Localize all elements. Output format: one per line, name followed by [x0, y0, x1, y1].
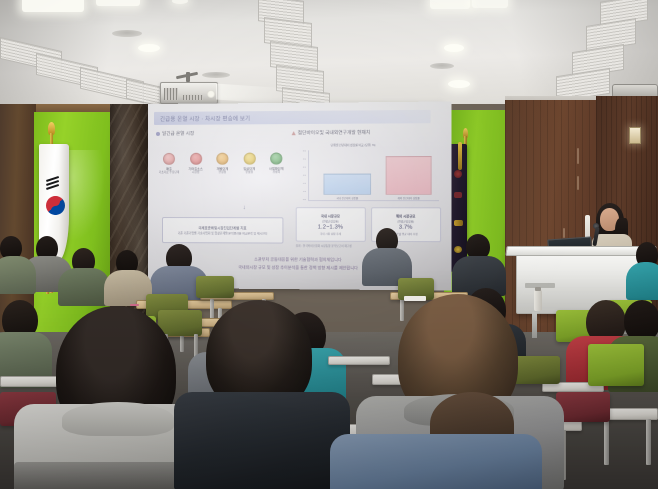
right-section-heading: 첨단바이오및 국내외연구개발 현재치	[292, 129, 444, 136]
section-bullet-icon	[156, 132, 160, 136]
slide-right-panel: 첨단바이오및 국내외연구개발 현재치 단위별 전년대비 성장률 비교 (단위: …	[292, 129, 444, 254]
chair	[588, 344, 644, 386]
left-section-heading: 일긴급 온열 시장	[156, 130, 288, 137]
podium-desktop-surface	[505, 246, 656, 256]
stat-box-domestic: 국내 시장규모 (연평균성장률) 1.2~1.3% 국내 시장 성장 추세	[296, 207, 366, 242]
chart-source-note: 출처 : 한국바이오협회 시장동향 분석보고서 재구성	[296, 244, 352, 248]
y-tick-label: 3.0	[303, 175, 306, 177]
ceiling-light-1	[22, 0, 84, 12]
flag-right-emblem-1	[454, 170, 462, 178]
process-step: 개발단계 안정성	[211, 153, 233, 175]
y-tick-label: 6.0	[303, 150, 306, 152]
step-circle-icon-5	[270, 152, 282, 164]
stat-title: 국내 시장규모	[321, 213, 340, 218]
stat-subtitle: (연평균성장률)	[397, 220, 414, 224]
flag-right-emblem-3	[454, 220, 463, 226]
desk-leg	[400, 299, 404, 321]
step-subcaption: 안정성	[211, 171, 233, 175]
bar-overseas	[386, 156, 432, 195]
step-circle-icon-2	[190, 153, 202, 165]
paper-on-desk	[404, 296, 426, 301]
bar-chart: 단위별 전년대비 성장률 비교 (단위: %) 6.0 5.0 4.0 3.0 …	[296, 142, 441, 206]
flag-right-emblem-2	[454, 192, 462, 198]
y-tick-label: 5.0	[303, 158, 306, 160]
person-shoulders-denim	[330, 434, 542, 489]
step-circle-icon-4	[243, 153, 255, 165]
desk	[328, 356, 390, 365]
left-section-title: 일긴급 온열 시장	[162, 131, 194, 137]
chart-caption: 단위별 전년대비 성장률 비교 (단위: %)	[331, 143, 376, 147]
left-note-line-2: 기준 기준기업별 기술사업화 및 임상단계별 분석결과를 비교분석 및 제시한다	[178, 231, 268, 235]
person-shoulders	[58, 268, 110, 306]
step-circle-icon-3	[216, 153, 228, 165]
process-icon-row: 매출 기초자료 수집단계 기타출소스 시장성 개발단계 안정성	[158, 152, 288, 174]
section-triangle-icon	[292, 131, 296, 135]
person-shoulders	[626, 262, 658, 300]
chair	[196, 276, 234, 298]
wall-sconce-light	[629, 127, 641, 144]
bar-domestic	[323, 174, 371, 195]
ceiling-light-5	[444, 44, 464, 52]
chair	[158, 310, 202, 336]
left-note-box: 국제표준화및시장진입단계별 지표 기준 기준기업별 기술사업화 및 임상단계별 …	[162, 217, 283, 244]
bar-label-overseas: 해외 전년대비 성장률	[381, 196, 435, 200]
slide-footer-line-2: 국내외시장 규모 및 성장 추이분석을 통한 정책 방향 제시를 제안합니다	[238, 265, 358, 272]
chart-plot-area: 국내 전년대비 성장률 해외 전년대비 성장률	[308, 150, 439, 201]
wood-seam-3	[563, 228, 565, 238]
chair	[514, 356, 560, 384]
projector	[160, 82, 218, 104]
person-shoulders	[0, 256, 36, 294]
bar-label-domestic: 국내 전년대비 성장률	[319, 196, 375, 200]
ceiling-light-4	[430, 0, 470, 9]
process-step: 사업화단계 경쟁력	[265, 152, 287, 174]
process-step: 기타출소스 시장성	[185, 153, 207, 175]
seminar-room-photo: 긴급용 온열 시장 · 차시장 편승에 보기 일긴급 온열 시장 매출 기초자료…	[0, 0, 658, 489]
slide-left-panel: 일긴급 온열 시장 매출 기초자료 수집단계 기타출소스 시장성	[156, 130, 288, 254]
stat-value: 1.2~1.3%	[318, 224, 343, 230]
podium-leg-left	[532, 312, 537, 338]
chart-y-axis: 6.0 5.0 4.0 3.0 2.0 1.0 0.0	[298, 150, 306, 201]
right-section-title: 첨단바이오및 국내외연구개발 현재치	[298, 130, 370, 137]
ceiling-light-8	[172, 0, 188, 4]
wood-seam-1	[577, 148, 579, 164]
ceiling-light-3	[138, 44, 160, 52]
step-circle-icon-1	[163, 153, 175, 165]
stat-title: 해외 시장규모	[396, 213, 415, 218]
flag-right-emblem-4	[454, 246, 462, 253]
stat-subtitle: (연평균성장률)	[322, 219, 339, 223]
projector-lens	[207, 90, 215, 98]
water-bottle	[534, 290, 542, 311]
slide-title-bar: 긴급용 온열 시장 · 차시장 편승에 보기	[154, 110, 431, 125]
downward-arrow-icon: ↓	[243, 205, 246, 211]
ceiling-light-7	[472, 0, 508, 8]
slide-footer-line-1: 소관부처 공동대응을 위한 기술협력과 협의체입니다	[254, 257, 342, 264]
y-tick-label: 2.0	[303, 183, 306, 185]
flag-right-tassel	[458, 142, 462, 170]
chair	[556, 392, 610, 422]
person-shoulders	[174, 392, 350, 489]
pen-on-desk	[130, 304, 139, 306]
y-tick-label: 1.0	[303, 191, 306, 193]
y-tick-label: 0.0	[303, 199, 306, 201]
stat-footnote: 국내 시장 성장 추세	[320, 232, 341, 236]
step-subcaption: 유효성	[238, 171, 260, 175]
projector-vent-2	[183, 95, 203, 100]
process-step: 매출 기초자료 수집단계	[158, 153, 180, 175]
step-subcaption: 기초자료 수집단계	[158, 171, 180, 175]
ceiling-vent-3	[430, 63, 454, 69]
step-subcaption: 경쟁력	[265, 171, 287, 175]
desk-leg	[646, 419, 651, 465]
y-tick-label: 4.0	[303, 166, 306, 168]
ceiling-light-6	[448, 80, 470, 88]
ceiling-vent-1	[112, 30, 142, 37]
wood-seam-2	[577, 176, 579, 190]
ceiling-light-2	[96, 0, 140, 6]
slide-title: 긴급용 온열 시장 · 차시장 편승에 보기	[160, 114, 250, 123]
desk-leg	[604, 419, 609, 465]
stat-boxes: 국내 시장규모 (연평균성장률) 1.2~1.3% 국내 시장 성장 추세 해외…	[296, 207, 441, 242]
flag-fold-shadow	[59, 144, 69, 262]
projector-vent	[164, 88, 178, 100]
step-subcaption: 시장성	[185, 171, 207, 175]
ceiling-vent-2	[202, 72, 230, 78]
person-hoodie-collar	[62, 402, 174, 436]
left-note-line-1: 국제표준화및시장진입단계별 지표	[198, 225, 246, 230]
stat-value: 3.7%	[399, 225, 413, 231]
process-step: 임상단계 유효성	[238, 153, 260, 175]
water-bottle-cap	[535, 287, 541, 291]
